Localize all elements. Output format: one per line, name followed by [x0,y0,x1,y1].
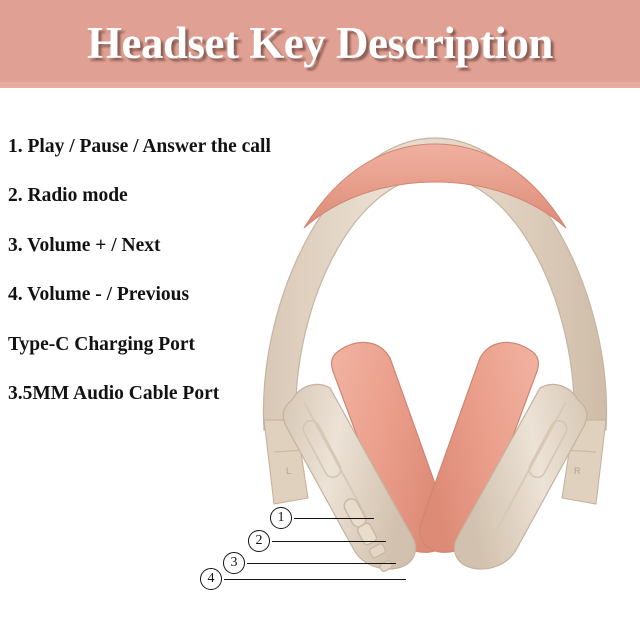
callout-marker-4[interactable]: 4 [200,568,222,590]
callout-marker-3[interactable]: 3 [223,552,245,574]
page-title: Headset Key Description [0,17,640,69]
callout-line-1 [294,518,374,519]
callout-line-2 [272,541,386,542]
title-banner: Headset Key Description [0,0,640,88]
headphone-product-image: L R [230,100,640,610]
callout-line-3 [247,563,396,564]
right-channel-marking: R [574,466,581,476]
callout-marker-2[interactable]: 2 [248,530,270,552]
callout-line-4 [224,579,406,580]
callout-marker-1[interactable]: 1 [270,507,292,529]
left-channel-marking: L [286,466,291,476]
